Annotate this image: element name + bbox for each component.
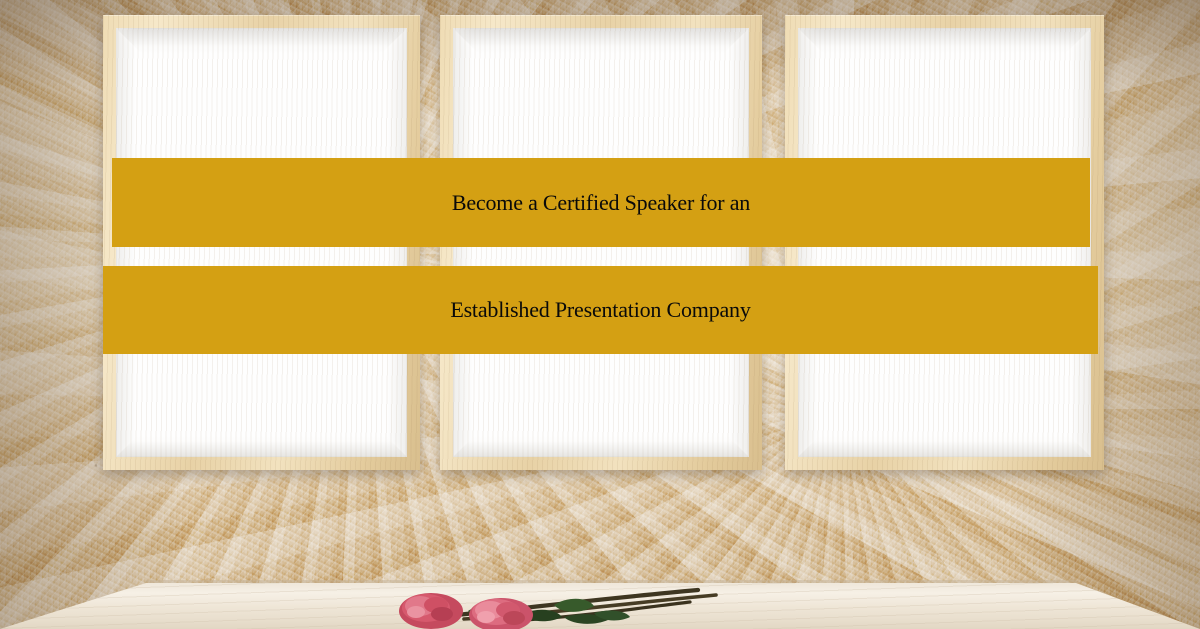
rose-bloom-left [399, 593, 463, 629]
rose-bloom-right [469, 598, 533, 629]
poster-canvas: Become a Certified Speaker for an Establ… [0, 0, 1200, 629]
headline-line-1-text: Become a Certified Speaker for an [112, 192, 1090, 214]
headline-line-2-text: Established Presentation Company [103, 299, 1098, 321]
roses-illustration [398, 581, 778, 629]
headline-banner-line-1: Become a Certified Speaker for an [112, 158, 1090, 247]
headline-banner-line-2: Established Presentation Company [103, 266, 1098, 354]
